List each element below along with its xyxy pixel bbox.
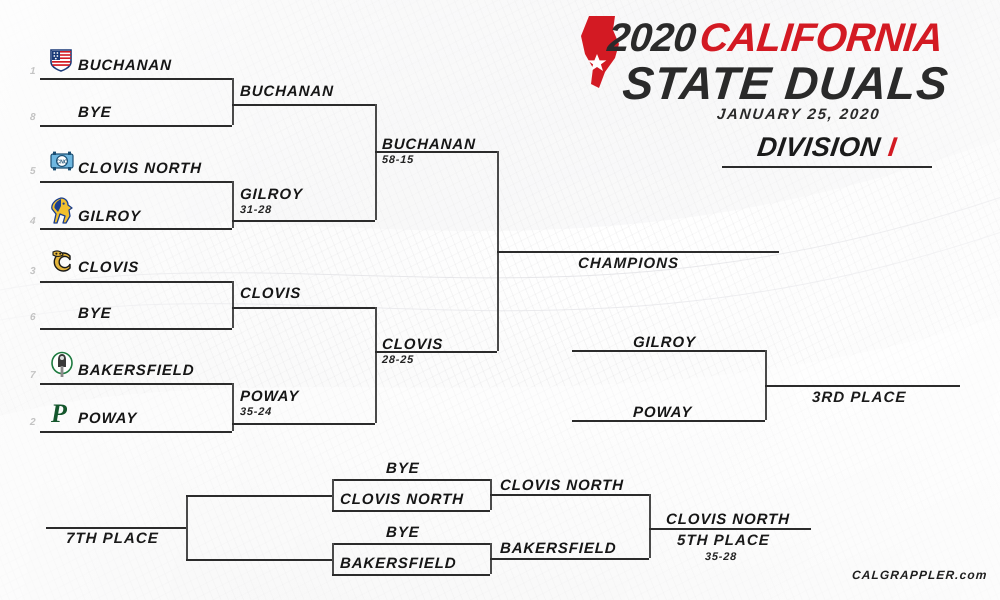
qf-connector-2 (375, 307, 377, 423)
sf-score-1: 58-15 (382, 154, 414, 166)
consolation-r1-team-2: CLOVIS NORTH (340, 491, 464, 508)
final-line (497, 251, 779, 253)
consolation-r2-connector (649, 494, 651, 558)
svg-text:CNC: CNC (56, 159, 67, 165)
qf-score-4: 35-24 (240, 406, 272, 418)
qf-connector-1 (375, 104, 377, 220)
round1-team-1: BUCHANAN (78, 57, 172, 74)
consolation-r2-team-2: BAKERSFIELD (500, 540, 617, 557)
third-place-line-1 (572, 350, 765, 352)
consolation-seventh-feed-top (186, 495, 332, 497)
division-title: DIVISION I (720, 132, 934, 163)
seed-8: 8 (30, 112, 36, 123)
qf-line-4 (232, 423, 375, 425)
header-event-title: STATE DUALS (620, 56, 951, 110)
qf-team-3: CLOVIS (240, 285, 302, 302)
round1-line-2 (40, 125, 232, 127)
seed-3: 3 (30, 266, 36, 277)
seed-1: 1 (30, 66, 36, 77)
consolation-r1-line-4 (332, 574, 490, 576)
qf-score-2: 31-28 (240, 204, 272, 216)
qf-line-2 (232, 220, 375, 222)
round1-team-3: CLOVIS NORTH (78, 160, 202, 177)
header-state: CALIFORNIA (698, 16, 945, 61)
round1-team-5: CLOVIS (78, 259, 140, 276)
fifth-place-label: 5TH PLACE (677, 532, 770, 549)
event-header: 2020 CALIFORNIA STATE DUALS JANUARY 25, … (575, 8, 995, 128)
consolation-r2-line-1 (490, 494, 649, 496)
round1-line-1 (40, 78, 232, 80)
svg-text:P: P (50, 399, 68, 427)
qf-team-1: BUCHANAN (240, 83, 334, 100)
round1-team-4: GILROY (78, 208, 141, 225)
consolation-r1-connector-2-left (332, 543, 334, 574)
division-block: DIVISION I (722, 132, 932, 163)
header-date: JANUARY 25, 2020 (716, 106, 881, 123)
round1-team-6: BYE (78, 305, 112, 322)
consolation-r1-connector-1-left (332, 479, 334, 510)
fifth-place-line (649, 528, 811, 530)
round1-connector-3 (232, 281, 234, 328)
champions-label: CHAMPIONS (578, 255, 680, 272)
round1-line-6 (40, 328, 232, 330)
round1-line-8 (40, 431, 232, 433)
consolation-r1-team-3: BYE (386, 524, 420, 541)
third-place-label: 3RD PLACE (812, 389, 907, 406)
third-place-line-2 (572, 420, 765, 422)
division-underline (722, 166, 932, 168)
division-number: I (886, 132, 898, 162)
qf-team-2: GILROY (240, 186, 303, 203)
clovis-north-logo: CNC (49, 150, 75, 174)
sf-line-1 (375, 151, 497, 153)
header-year: 2020 (606, 16, 698, 61)
poway-logo: P (48, 399, 78, 427)
qf-line-1 (232, 104, 375, 106)
round1-team-8: POWAY (78, 410, 138, 427)
consolation-seventh-connector (186, 495, 188, 559)
qf-line-3 (232, 307, 375, 309)
third-place-result-line (765, 385, 960, 387)
seed-6: 6 (30, 312, 36, 323)
round1-line-7 (40, 383, 232, 385)
sf-line-2 (375, 351, 497, 353)
consolation-r1-line-3 (332, 543, 490, 545)
sf-score-2: 28-25 (382, 354, 414, 366)
bracket-canvas: 2020 CALIFORNIA STATE DUALS JANUARY 25, … (0, 0, 1000, 600)
consolation-r1-line-2 (332, 510, 490, 512)
consolation-seventh-feed-bottom (186, 559, 332, 561)
third-place-entrant-1: GILROY (633, 334, 696, 351)
seed-4: 4 (30, 216, 36, 227)
round1-connector-1 (232, 78, 234, 125)
seventh-place-label: 7TH PLACE (66, 530, 159, 547)
round1-line-4 (40, 228, 232, 230)
consolation-r2-team-1: CLOVIS NORTH (500, 477, 624, 494)
fifth-place-winner: CLOVIS NORTH (666, 511, 790, 528)
round1-line-3 (40, 181, 232, 183)
consolation-r1-team-4: BAKERSFIELD (340, 555, 457, 572)
gilroy-logo (48, 196, 76, 226)
consolation-r1-team-1: BYE (386, 460, 420, 477)
seventh-place-line (46, 527, 186, 529)
seed-7: 7 (30, 370, 36, 381)
seed-2: 2 (30, 417, 36, 428)
third-place-entrant-2: POWAY (633, 404, 693, 421)
fifth-place-score: 35-28 (705, 551, 737, 563)
round1-line-5 (40, 281, 232, 283)
round1-team-7: BAKERSFIELD (78, 362, 195, 379)
clovis-logo (48, 249, 76, 275)
site-watermark: CALGRAPPLER.com (852, 568, 989, 582)
seed-5: 5 (30, 166, 36, 177)
consolation-r2-line-2 (490, 558, 649, 560)
round1-team-2: BYE (78, 104, 112, 121)
division-label: DIVISION (755, 132, 882, 162)
bakersfield-logo (50, 351, 74, 379)
qf-team-4: POWAY (240, 388, 300, 405)
buchanan-logo (48, 47, 74, 73)
consolation-r1-line-1 (332, 479, 490, 481)
